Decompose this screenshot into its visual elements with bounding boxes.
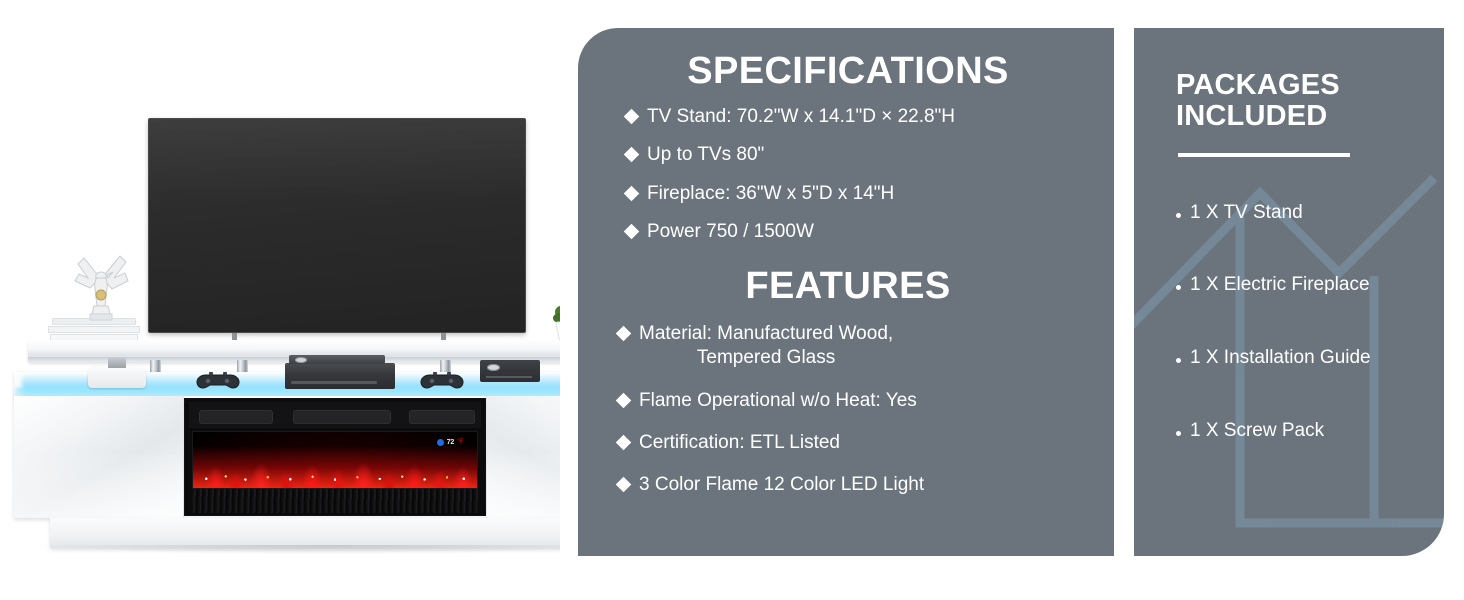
diamond-bullet-icon — [624, 224, 640, 240]
spec-item-text: Up to TVs 80" — [647, 143, 764, 167]
product-photo: 72 °F — [0, 0, 560, 600]
dot-bullet-icon — [1176, 358, 1181, 363]
list-item: 1 X TV Stand — [1176, 201, 1422, 225]
fireplace-insert: 72 °F — [184, 398, 486, 516]
feature-item-text: Flame Operational w/o Heat: Yes — [639, 389, 917, 413]
package-item-text: 1 X Installation Guide — [1190, 346, 1371, 370]
title-divider — [1178, 153, 1350, 157]
list-item: Fireplace: 36"W x 5"D x 14"H — [608, 175, 1088, 213]
package-item-text: 1 X Screw Pack — [1190, 419, 1324, 443]
feature-item-text: 3 Color Flame 12 Color LED Light — [639, 473, 924, 497]
feature-item-text: Material: Manufactured Wood, Tempered Gl… — [639, 322, 893, 371]
media-box-icon — [480, 360, 540, 382]
fireplace-temperature-display: 72 °F — [437, 439, 463, 446]
diamond-bullet-icon — [616, 435, 632, 451]
list-item: Certification: ETL Listed — [608, 422, 1088, 464]
packages-list: 1 X TV Stand 1 X Electric Fireplace 1 X … — [1176, 201, 1422, 443]
feature-item-text: Certification: ETL Listed — [639, 431, 840, 455]
speaker-icon — [88, 366, 146, 388]
spec-item-text: Power 750 / 1500W — [647, 220, 814, 244]
spec-item-text: Fireplace: 36"W x 5"D x 14"H — [647, 182, 894, 206]
diamond-bullet-icon — [616, 326, 632, 342]
fireplace-temp-value: 72 — [447, 439, 454, 446]
packages-included-panel: PACKAGESINCLUDED 1 X TV Stand 1 X Electr… — [1134, 28, 1444, 556]
specifications-list: TV Stand: 70.2"W x 14.1"D × 22.8"H Up to… — [608, 98, 1088, 251]
diamond-bullet-icon — [616, 392, 632, 408]
packages-title: PACKAGESINCLUDED — [1176, 70, 1422, 133]
specifications-heading: SPECIFICATIONS — [608, 52, 1088, 92]
spec-item-text: TV Stand: 70.2"W x 14.1"D × 22.8"H — [647, 105, 955, 129]
list-item: TV Stand: 70.2"W x 14.1"D × 22.8"H — [608, 98, 1088, 136]
game-controller-icon — [196, 372, 240, 389]
game-console-icon — [285, 363, 395, 389]
list-item: 1 X Installation Guide — [1176, 346, 1422, 370]
list-item: 1 X Screw Pack — [1176, 419, 1422, 443]
diamond-bullet-icon — [624, 109, 640, 125]
diamond-bullet-icon — [616, 477, 632, 493]
list-item: Up to TVs 80" — [608, 136, 1088, 174]
hearth-bed — [192, 489, 478, 513]
diamond-bullet-icon — [624, 185, 640, 201]
features-list: Material: Manufactured Wood, Tempered Gl… — [608, 313, 1088, 507]
power-indicator-icon — [437, 439, 444, 446]
potted-plant-icon — [550, 296, 560, 344]
package-item-text: 1 X Electric Fireplace — [1190, 273, 1370, 297]
fireplace-temp-unit: °F — [457, 439, 463, 445]
diamond-bullet-icon — [624, 147, 640, 163]
specifications-panel: SPECIFICATIONS TV Stand: 70.2"W x 14.1"D… — [578, 28, 1114, 556]
features-heading: FEATURES — [608, 267, 1088, 307]
cabinet-plinth — [50, 518, 560, 548]
floor-shadow — [36, 545, 560, 554]
cabinet-door-left — [14, 396, 184, 518]
dot-bullet-icon — [1176, 431, 1181, 436]
list-item: 3 Color Flame 12 Color LED Light — [608, 464, 1088, 506]
dot-bullet-icon — [1176, 213, 1181, 218]
ember-bed — [195, 474, 475, 482]
package-item-text: 1 X TV Stand — [1190, 201, 1303, 225]
cabinet-door-right — [486, 396, 560, 518]
list-item: Material: Manufactured Wood, Tempered Gl… — [608, 313, 1088, 380]
list-item: Flame Operational w/o Heat: Yes — [608, 380, 1088, 422]
infographic-root: 72 °F SPECIFICATIONS TV Stand: 70.2"W x … — [0, 0, 1464, 600]
dot-bullet-icon — [1176, 285, 1181, 290]
list-item: Power 750 / 1500W — [608, 213, 1088, 251]
eagle-statue-icon — [66, 248, 136, 322]
tv-screen — [148, 118, 526, 333]
list-item: 1 X Electric Fireplace — [1176, 273, 1422, 297]
game-controller-icon — [420, 372, 464, 389]
